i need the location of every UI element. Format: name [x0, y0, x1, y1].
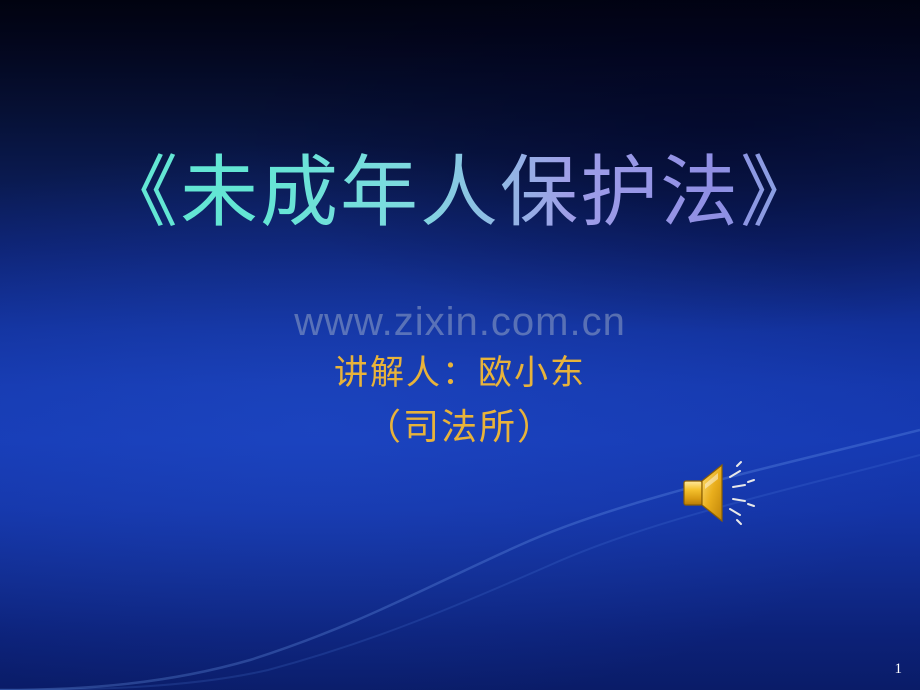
department-line: （司法所） [0, 398, 920, 450]
presenter-line: 讲解人：欧小东 [0, 345, 920, 394]
watermark-text: www.zixin.com.cn [0, 300, 920, 345]
page-number: 1 [895, 661, 903, 678]
speaker-icon[interactable] [678, 455, 768, 535]
presentation-slide: 《未成年人保护法》 www.zixin.com.cn 讲解人：欧小东 （司法所） [0, 0, 920, 690]
slide-title: 《未成年人保护法》 [0, 150, 920, 237]
